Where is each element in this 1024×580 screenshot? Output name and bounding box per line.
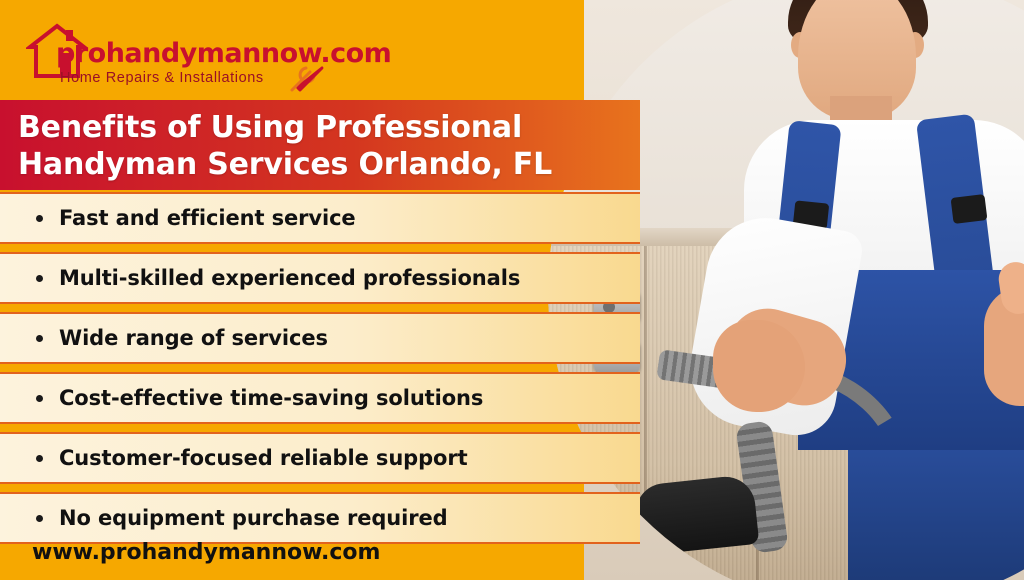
list-item-label: Fast and efficient service bbox=[59, 206, 356, 230]
bullet-dot-icon bbox=[36, 515, 43, 522]
work-glove bbox=[633, 474, 760, 556]
list-item-label: Customer-focused reliable support bbox=[59, 446, 468, 470]
promo-banner: prohandymannow.com Home Repairs & Instal… bbox=[0, 0, 1024, 580]
list-item: No equipment purchase required bbox=[0, 492, 640, 544]
logo-tagline: Home Repairs & Installations bbox=[60, 70, 264, 86]
bullet-dot-icon bbox=[36, 335, 43, 342]
list-item: Wide range of services bbox=[0, 312, 640, 364]
bullet-dot-icon bbox=[36, 395, 43, 402]
list-item-label: Multi-skilled experienced professionals bbox=[59, 266, 520, 290]
list-item: Fast and efficient service bbox=[0, 192, 640, 244]
page-title: Benefits of Using Professional Handyman … bbox=[0, 100, 640, 190]
wrench-screwdriver-icon bbox=[288, 64, 326, 94]
person-hand bbox=[713, 320, 805, 412]
title-line-2: Handyman Services Orlando, FL bbox=[18, 147, 552, 182]
bullet-dot-icon bbox=[36, 455, 43, 462]
list-item: Cost-effective time-saving solutions bbox=[0, 372, 640, 424]
bullet-dot-icon bbox=[36, 215, 43, 222]
list-item-label: Cost-effective time-saving solutions bbox=[59, 386, 483, 410]
list-item-label: Wide range of services bbox=[59, 326, 328, 350]
benefits-list: Fast and efficient service Multi-skilled… bbox=[0, 192, 640, 552]
website-url[interactable]: www.prohandymannow.com bbox=[32, 540, 380, 565]
logo-brand-name: prohandymannow.com bbox=[56, 38, 391, 69]
overall-buckle bbox=[951, 194, 988, 224]
title-line-1: Benefits of Using Professional bbox=[18, 110, 522, 145]
bullet-dot-icon bbox=[36, 275, 43, 282]
list-item: Multi-skilled experienced professionals bbox=[0, 252, 640, 304]
list-item: Customer-focused reliable support bbox=[0, 432, 640, 484]
logo[interactable]: prohandymannow.com Home Repairs & Instal… bbox=[22, 8, 332, 100]
list-item-label: No equipment purchase required bbox=[59, 506, 448, 530]
